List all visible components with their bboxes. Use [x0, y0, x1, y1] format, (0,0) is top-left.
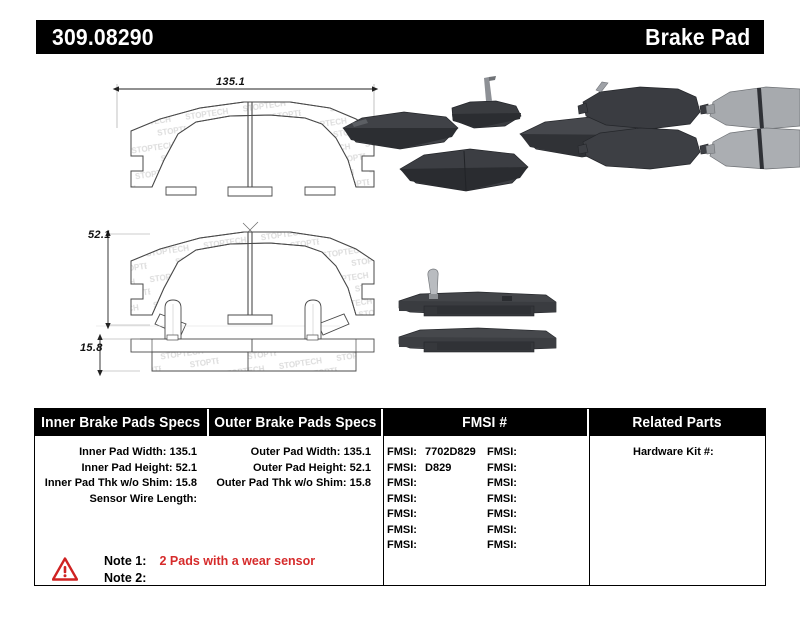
pad-front-view-drawing	[131, 102, 374, 196]
fmsi-value	[517, 508, 522, 520]
spec-row: Inner Pad Width: 135.1	[35, 445, 197, 461]
fmsi-value	[517, 477, 522, 489]
column-header-fmsi: FMSI #	[383, 409, 587, 436]
spec-row: Outer Pad Thk w/o Shim: 15.8	[209, 476, 371, 492]
fmsi-value	[517, 462, 522, 474]
fmsi-row: FMSI:	[487, 523, 522, 539]
column-header-fmsi-label: FMSI #	[463, 415, 508, 431]
fmsi-label: FMSI:	[387, 446, 417, 458]
column-divider	[589, 436, 590, 585]
column-header-related-parts: Related Parts	[589, 409, 765, 436]
spec-value: 15.8	[350, 477, 371, 489]
notes-text-block: Note 1: 2 Pads with a wear sensor Note 2…	[104, 553, 315, 587]
product-photo-edge-pair	[399, 269, 556, 352]
fmsi-label: FMSI:	[387, 539, 417, 551]
fmsi-row: FMSI:	[387, 507, 476, 523]
fmsi-row: FMSI:	[387, 492, 476, 508]
column-header-outer-specs: Outer Brake Pads Specs	[209, 409, 381, 436]
fmsi-label: FMSI:	[387, 508, 417, 520]
header-bar: 309.08290 Brake Pad	[36, 20, 764, 54]
fmsi-value	[417, 477, 422, 489]
product-photo-flat-set	[578, 82, 800, 169]
part-number: 309.08290	[52, 26, 154, 49]
spec-label: Outer Pad Thk w/o Shim:	[216, 477, 346, 489]
spec-label: Outer Pad Width:	[251, 446, 341, 458]
spec-row: Outer Pad Height: 52.1	[209, 461, 371, 477]
fmsi-row: FMSI: D829	[387, 461, 476, 477]
dimension-label-thickness: 15.8	[80, 342, 103, 354]
spec-value: 135.1	[169, 446, 197, 458]
fmsi-row: FMSI:	[487, 445, 522, 461]
fmsi-label: FMSI:	[387, 462, 417, 474]
fmsi-label: FMSI:	[487, 539, 517, 551]
fmsi-label: FMSI:	[487, 446, 517, 458]
fmsi-label: FMSI:	[487, 477, 517, 489]
fmsi-value	[517, 446, 522, 458]
warning-triangle-icon	[52, 557, 78, 581]
column-header-related-parts-label: Related Parts	[632, 415, 721, 431]
fmsi-row: FMSI:	[487, 538, 522, 554]
note-row-1: Note 1: 2 Pads with a wear sensor	[104, 553, 315, 570]
fmsi-label: FMSI:	[387, 524, 417, 536]
spec-row: Inner Pad Height: 52.1	[35, 461, 197, 477]
spec-value: 52.1	[176, 462, 197, 474]
fmsi-row: FMSI: 7702D829	[387, 445, 476, 461]
spec-label: Sensor Wire Length:	[90, 493, 197, 505]
fmsi-row: FMSI:	[487, 492, 522, 508]
spec-label: Inner Pad Thk w/o Shim:	[45, 477, 173, 489]
fmsi-label: FMSI:	[487, 508, 517, 520]
fmsi-label: FMSI:	[487, 524, 517, 536]
dimension-label-height: 52.1	[88, 229, 111, 241]
fmsi-value	[417, 539, 422, 551]
note-value: 2 Pads with a wear sensor	[159, 554, 315, 568]
table-header-row: Inner Brake Pads Specs Outer Brake Pads …	[35, 409, 765, 436]
note-label: Note 2:	[104, 570, 156, 587]
column-header-inner-specs: Inner Brake Pads Specs	[35, 409, 207, 436]
fmsi-value	[417, 508, 422, 520]
fmsi-value	[517, 524, 522, 536]
spec-value: 52.1	[350, 462, 371, 474]
spec-value: 135.1	[343, 446, 371, 458]
fmsi-row: FMSI:	[387, 476, 476, 492]
fmsi-label: FMSI:	[487, 493, 517, 505]
fmsi-row: FMSI:	[387, 523, 476, 539]
related-part-row: Hardware Kit #:	[633, 445, 714, 461]
product-type: Brake Pad	[645, 26, 750, 49]
fmsi-row: FMSI:	[487, 461, 522, 477]
drawing-area: STOPTECH STOPTECH	[0, 56, 800, 396]
fmsi-value	[417, 524, 422, 536]
note-label: Note 1:	[104, 553, 156, 570]
pad-second-view-drawing	[96, 222, 374, 335]
outer-specs-list: Outer Pad Width: 135.1 Outer Pad Height:…	[209, 445, 381, 492]
spec-label: Outer Pad Height:	[253, 462, 347, 474]
note-row-2: Note 2:	[104, 570, 315, 587]
spec-row: Sensor Wire Length:	[35, 492, 197, 508]
fmsi-label: FMSI:	[387, 493, 417, 505]
fmsi-value	[417, 493, 422, 505]
spec-row: Outer Pad Width: 135.1	[209, 445, 371, 461]
fmsi-label: FMSI:	[487, 462, 517, 474]
fmsi-row: FMSI:	[487, 507, 522, 523]
fmsi-value: 7702D829	[420, 446, 476, 458]
column-header-outer-specs-label: Outer Brake Pads Specs	[214, 415, 376, 431]
fmsi-label: FMSI:	[387, 477, 417, 489]
column-divider	[383, 436, 384, 585]
spec-row: Inner Pad Thk w/o Shim: 15.8	[35, 476, 197, 492]
related-part-label: Hardware Kit #:	[633, 446, 714, 458]
spec-label: Inner Pad Width:	[79, 446, 166, 458]
fmsi-row: FMSI:	[487, 476, 522, 492]
fmsi-row: FMSI:	[387, 538, 476, 554]
fmsi-value	[517, 493, 522, 505]
notes-section: Note 1: 2 Pads with a wear sensor Note 2…	[52, 553, 315, 587]
technical-drawings: STOPTECH STOPTECH	[0, 56, 800, 396]
fmsi-list-secondary: FMSI: FMSI: FMSI: FMSI: FMSI: FMSI:	[487, 445, 522, 554]
related-parts-list: Hardware Kit #:	[633, 445, 714, 461]
fmsi-list-primary: FMSI: 7702D829 FMSI: D829 FMSI: FMSI: FM…	[387, 445, 476, 554]
fmsi-value	[517, 539, 522, 551]
spec-label: Inner Pad Height:	[81, 462, 172, 474]
fmsi-value: D829	[420, 462, 451, 474]
dimension-label-width: 135.1	[216, 76, 245, 88]
column-header-inner-specs-label: Inner Brake Pads Specs	[41, 415, 200, 431]
inner-specs-list: Inner Pad Width: 135.1 Inner Pad Height:…	[35, 445, 207, 507]
spec-value: 15.8	[176, 477, 197, 489]
